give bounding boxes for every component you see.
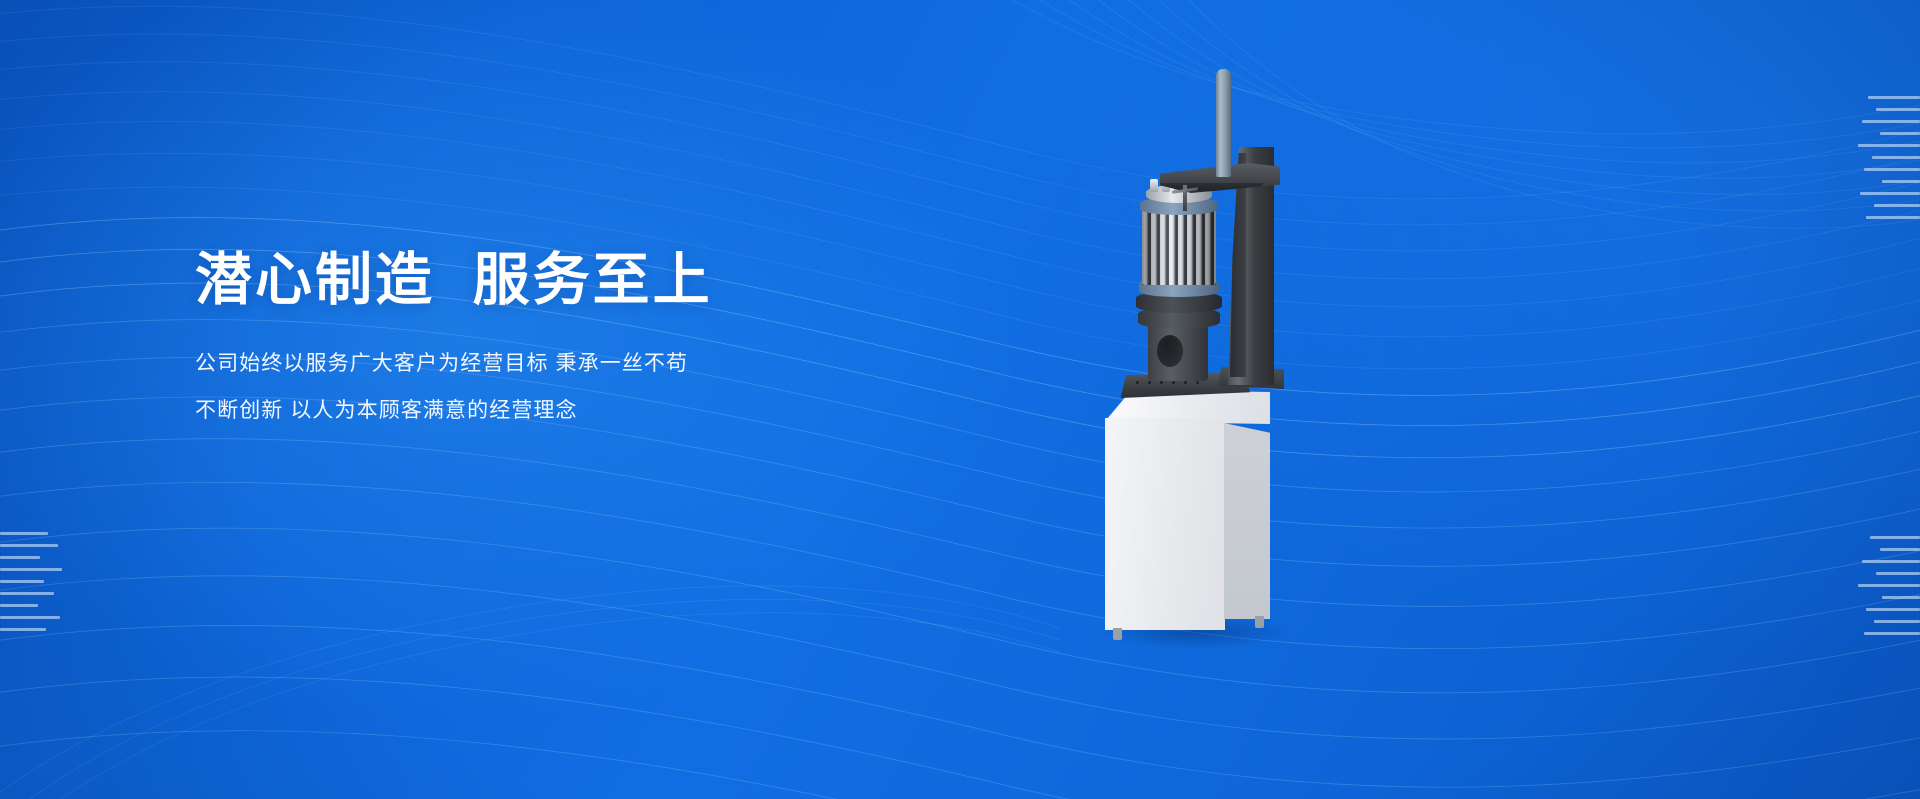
subtitle-line-1: 公司始终以服务广大客户为经营目标 秉承一丝不苟 xyxy=(195,348,1015,381)
guide-rod xyxy=(1216,69,1231,177)
tick-ladder-right-bottom xyxy=(1858,536,1920,635)
cabinet-foot-right xyxy=(1255,616,1264,628)
cabinet-side-face xyxy=(1224,423,1270,619)
product-image-balance-testing-machine xyxy=(1100,55,1340,655)
rotor-shading xyxy=(1142,207,1216,285)
pillar-bore xyxy=(1157,335,1183,367)
hero-copy-block: 潜心制造 服务至上 公司始终以服务广大客户为经营目标 秉承一丝不苟 不断创新 以… xyxy=(195,247,1015,427)
finned-rotor-assembly xyxy=(1142,207,1216,285)
subtitle-line-2: 不断创新 以人为本顾客满意的经营理念 xyxy=(195,395,1015,428)
rotor-pillar xyxy=(1148,323,1208,381)
hero-subtitle: 公司始终以服务广大客户为经营目标 秉承一丝不苟 不断创新 以人为本顾客满意的经营… xyxy=(195,314,1015,427)
hero-banner: 潜心制造 服务至上 公司始终以服务广大客户为经营目标 秉承一丝不苟 不断创新 以… xyxy=(0,0,1920,799)
tick-ladder-right-top xyxy=(1858,96,1920,219)
cabinet-foot-left xyxy=(1113,628,1122,640)
cabinet-front-face xyxy=(1105,418,1225,630)
tick-ladder-left-bottom xyxy=(0,532,62,631)
machine-cabinet xyxy=(1105,390,1270,635)
page-title: 潜心制造 服务至上 xyxy=(195,247,1015,314)
arm-probe-spindle xyxy=(1183,185,1187,211)
